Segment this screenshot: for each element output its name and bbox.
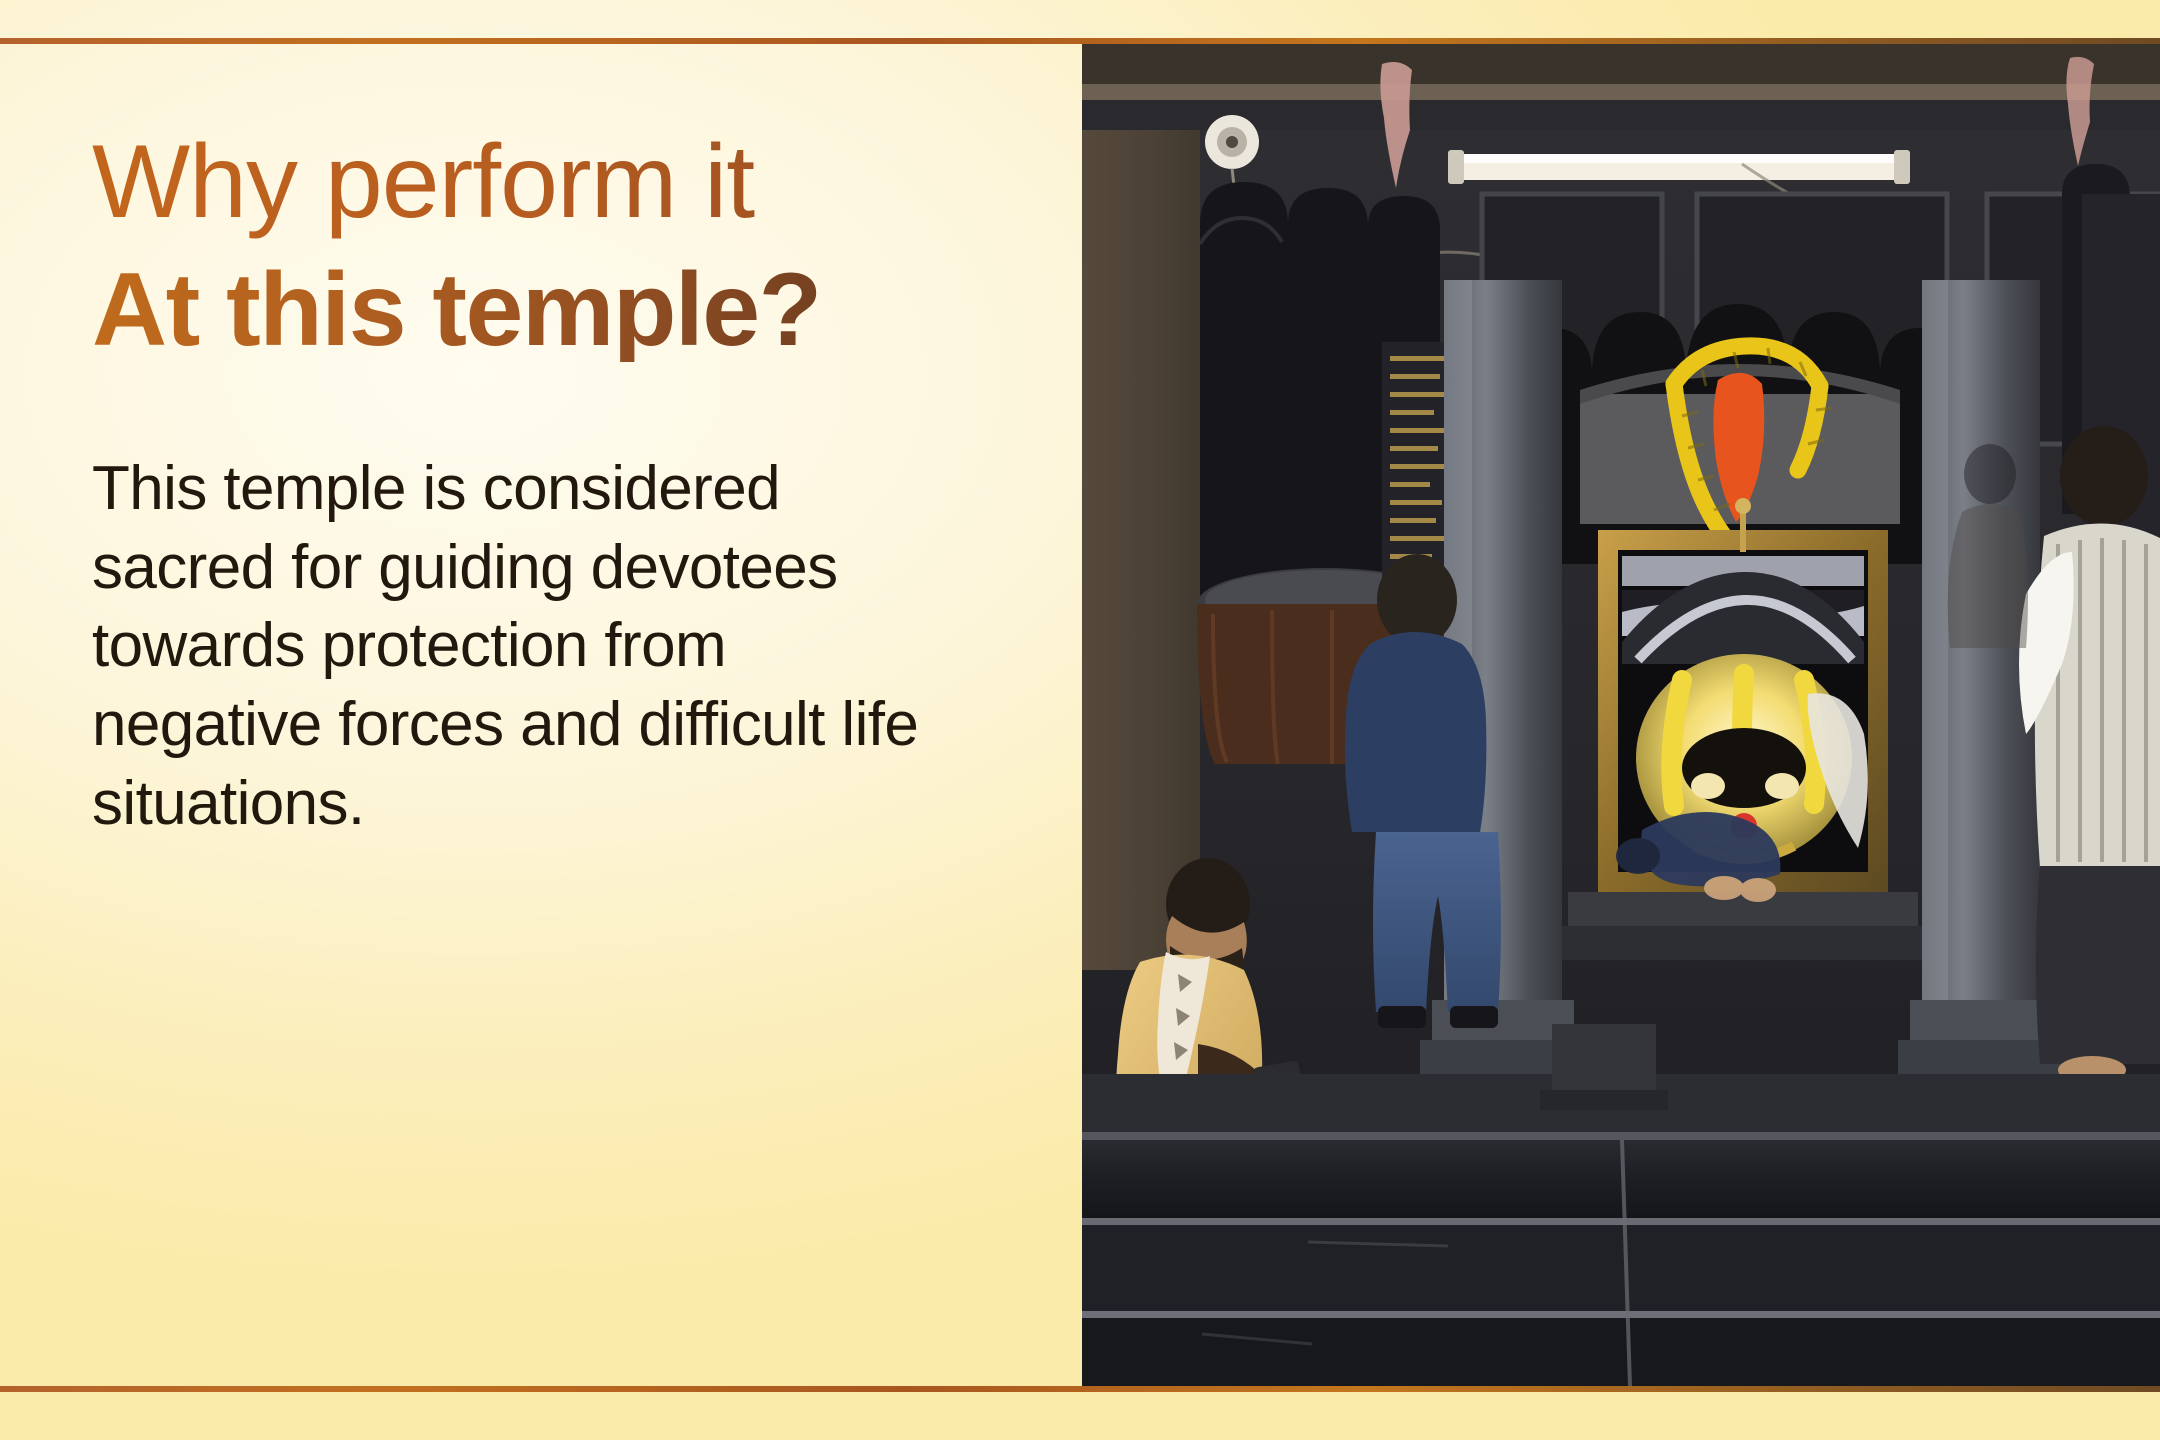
headline-line-1: Why perform it bbox=[92, 130, 1052, 240]
temple-photo-illustration bbox=[1082, 44, 2160, 1386]
page-title: Why perform it At this temple? bbox=[92, 130, 1052, 362]
slide-canvas: Why perform it At this temple? This temp… bbox=[0, 0, 2160, 1440]
body-paragraph: This temple is considered sacred for gui… bbox=[92, 450, 972, 844]
bottom-divider-rule bbox=[0, 1386, 2160, 1392]
headline-line-2: At this temple? bbox=[92, 258, 1052, 362]
text-column: Why perform it At this temple? This temp… bbox=[92, 130, 1052, 844]
floor-steps bbox=[1082, 1074, 2160, 1386]
temple-interior-photo bbox=[1082, 44, 2160, 1386]
